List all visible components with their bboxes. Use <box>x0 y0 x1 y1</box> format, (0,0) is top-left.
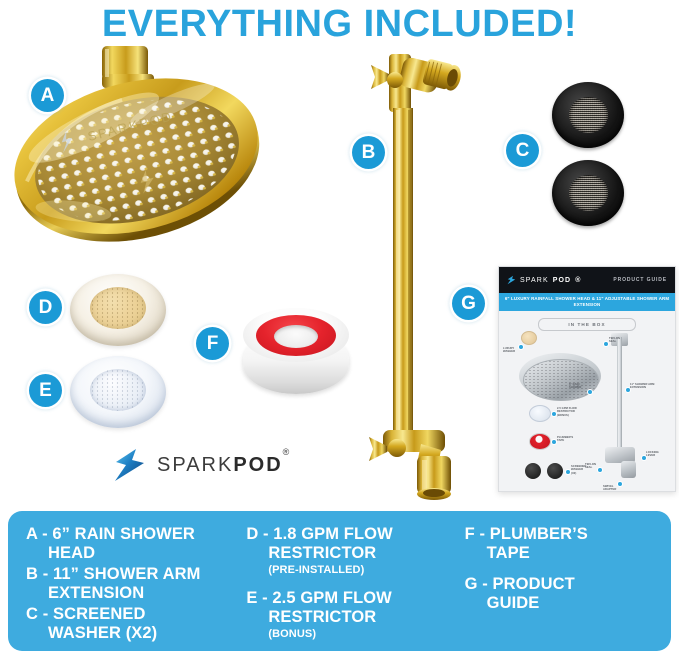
badge-c[interactable]: C <box>506 134 539 167</box>
guide-screened-washer-2 <box>547 463 563 479</box>
brand-name-light: SPARK <box>157 454 233 476</box>
brand-name-bold: POD <box>233 454 282 476</box>
legend-column-1: A - 6” RAIN SHOWER HEAD B - 11” SHOWER A… <box>8 525 232 651</box>
legend-item-d-line1: D - 1.8 GPM FLOW <box>246 525 442 544</box>
guide-brand-registered: ® <box>575 277 581 284</box>
guide-subtitle: 6" LUXURY RAINFALL SHOWER HEAD & 11" ADJ… <box>499 293 675 311</box>
flow-restrictor-2-5-image <box>70 356 166 428</box>
legend-item-e-line1: E - 2.5 GPM FLOW <box>246 589 442 608</box>
guide-arm-pipe <box>617 337 622 449</box>
guide-callout-dot <box>617 481 623 487</box>
plumbers-tape-image <box>243 308 349 406</box>
legend-item-c: C - SCREENED WASHER (X2) <box>26 605 222 643</box>
brand-registered-mark: ® <box>283 447 292 457</box>
guide-callout-dot <box>518 344 524 350</box>
legend-item-f-line1: F - PLUMBER’S <box>465 525 661 544</box>
legend-item-c-line2: WASHER (X2) <box>26 624 222 643</box>
guide-callout-label: TEFLONSEAL <box>585 463 596 470</box>
sparkpod-bolt-icon <box>113 448 147 482</box>
legend-item-e-note: (BONUS) <box>246 627 442 641</box>
guide-brand-bold: POD <box>553 277 571 284</box>
guide-callout-label: SWIVELADAPTER <box>603 485 616 492</box>
screened-washer-2 <box>552 160 624 226</box>
shower-arm-svg <box>365 48 485 503</box>
guide-callout-dot <box>597 467 603 473</box>
legend-item-a: A - 6” RAIN SHOWER HEAD <box>26 525 222 563</box>
guide-callout-label: TEFLONSEAL <box>609 337 620 344</box>
legend-item-f: F - PLUMBER’S TAPE <box>465 525 661 563</box>
legend-item-c-line1: C - SCREENED <box>26 605 222 624</box>
sparkpod-wordmark: SPARKPOD® <box>157 454 291 477</box>
screened-washers-image <box>552 82 664 227</box>
legend-item-a-line2: HEAD <box>26 544 222 563</box>
sparkpod-logo: SPARKPOD® <box>113 447 299 483</box>
tape-center-hole <box>274 325 318 348</box>
guide-callout-label: PLUMBER'STAPE <box>557 436 573 443</box>
guide-flow-restrictor <box>529 405 551 422</box>
legend-item-e-line2: RESTRICTOR <box>246 608 442 627</box>
guide-arm-outlet <box>621 461 636 478</box>
badge-a[interactable]: A <box>31 79 64 112</box>
guide-callout-label: 11" SHOWER ARMEXTENSION <box>630 383 654 390</box>
guide-diagram: LUXURYWASHER 6" RAINSHOWER 2.5 GPM FLOWR… <box>499 331 675 492</box>
legend-item-g: G - PRODUCT GUIDE <box>465 575 661 613</box>
guide-callout-dot <box>587 389 593 395</box>
guide-bolt-icon <box>507 274 516 286</box>
legend-column-2: D - 1.8 GPM FLOW RESTRICTOR (PRE-INSTALL… <box>232 525 452 651</box>
legend-item-g-line2: GUIDE <box>465 594 661 613</box>
legend-item-d-note: (PRE-INSTALLED) <box>246 563 442 577</box>
badge-f[interactable]: F <box>196 327 229 360</box>
guide-screened-washer-1 <box>525 463 541 479</box>
legend-item-a-line1: A - 6” RAIN SHOWER <box>26 525 222 544</box>
shower-arm-extension-image <box>365 48 485 503</box>
legend-item-d: D - 1.8 GPM FLOW RESTRICTOR (PRE-INSTALL… <box>246 525 442 577</box>
guide-header-bar: SPARKPOD® PRODUCT GUIDE <box>499 267 675 293</box>
guide-callout-label: 2.5 GPM FLOWRESTRICTOR(BONUS) <box>557 407 577 417</box>
rain-shower-head-image: SPARKPOD <box>8 44 268 259</box>
badge-b[interactable]: B <box>352 136 385 169</box>
legend-column-3: F - PLUMBER’S TAPE G - PRODUCT GUIDE <box>453 525 671 651</box>
badge-d[interactable]: D <box>29 291 62 324</box>
legend-item-e: E - 2.5 GPM FLOW RESTRICTOR (BONUS) <box>246 589 442 641</box>
screened-washer-1 <box>552 82 624 148</box>
legend-item-b: B - 11” SHOWER ARM EXTENSION <box>26 565 222 603</box>
guide-kicker: PRODUCT GUIDE <box>613 277 667 283</box>
legend-item-f-line2: TAPE <box>465 544 661 563</box>
guide-showerhead <box>523 359 599 401</box>
guide-brand: SPARKPOD® <box>507 274 581 286</box>
badge-e[interactable]: E <box>29 374 62 407</box>
guide-plumbers-tape <box>529 433 551 450</box>
badge-g[interactable]: G <box>452 287 485 320</box>
guide-section-pill: IN THE BOX <box>538 318 636 331</box>
page-title: EVERYTHING INCLUDED! <box>0 2 679 46</box>
guide-brand-light: SPARK <box>520 277 549 284</box>
legend-item-b-line2: EXTENSION <box>26 584 222 603</box>
legend-item-d-line2: RESTRICTOR <box>246 544 442 563</box>
rain-shower-head-svg: SPARKPOD <box>8 44 268 259</box>
flow-restrictor-1-8-image <box>70 274 166 346</box>
legend-item-b-line1: B - 11” SHOWER ARM <box>26 565 222 584</box>
guide-callout-label: 6" RAINSHOWER <box>569 383 581 390</box>
guide-callout-label: LOCKINGLEVER <box>646 451 659 458</box>
guide-callout-label: LUXURYWASHER <box>503 347 515 354</box>
legend-panel: A - 6” RAIN SHOWER HEAD B - 11” SHOWER A… <box>8 511 671 651</box>
guide-luxury-washer <box>521 331 537 345</box>
legend-item-g-line1: G - PRODUCT <box>465 575 661 594</box>
product-guide-image: SPARKPOD® PRODUCT GUIDE 6" LUXURY RAINFA… <box>498 266 676 492</box>
